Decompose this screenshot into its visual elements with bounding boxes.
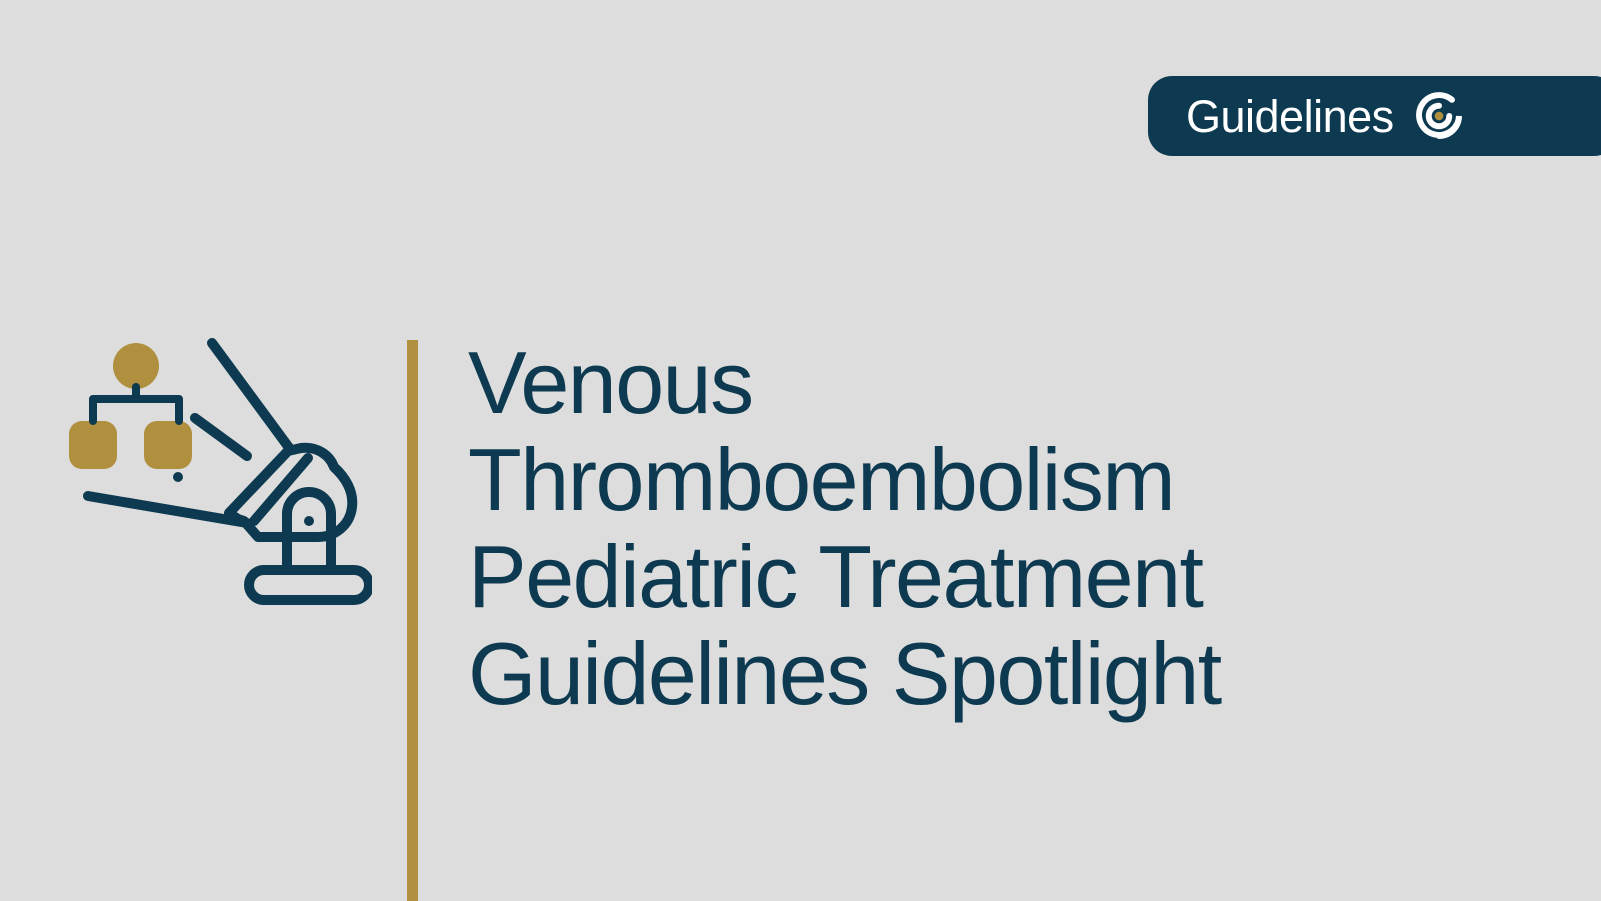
page-title-line-3: Pediatric Treatment xyxy=(468,528,1468,625)
org-chart-right-node-icon xyxy=(144,421,192,469)
logo-center-dot-icon xyxy=(1434,112,1443,121)
page-title-line-1: Venous xyxy=(468,334,1468,431)
org-chart-connectors-icon xyxy=(93,387,179,421)
gold-vertical-divider xyxy=(407,340,418,901)
org-chart-left-node-icon xyxy=(69,421,117,469)
spotlight-post-screw-icon xyxy=(304,516,314,526)
guidelines-badge-label: Guidelines xyxy=(1186,94,1394,139)
page-title-line-4: Guidelines Spotlight xyxy=(468,625,1468,722)
guidelines-spiral-logo-icon xyxy=(1412,89,1466,143)
page-title-line-2: Thromboembolism xyxy=(468,431,1468,528)
page-title: Venous Thromboembolism Pediatric Treatme… xyxy=(468,334,1468,722)
org-chart-top-node-icon xyxy=(113,343,159,389)
spotlight-ray-dot-icon xyxy=(173,472,183,482)
slide-canvas: Guidelines xyxy=(0,0,1601,901)
guidelines-badge[interactable]: Guidelines xyxy=(1148,76,1601,156)
spotlight-org-chart-icon xyxy=(62,325,372,610)
